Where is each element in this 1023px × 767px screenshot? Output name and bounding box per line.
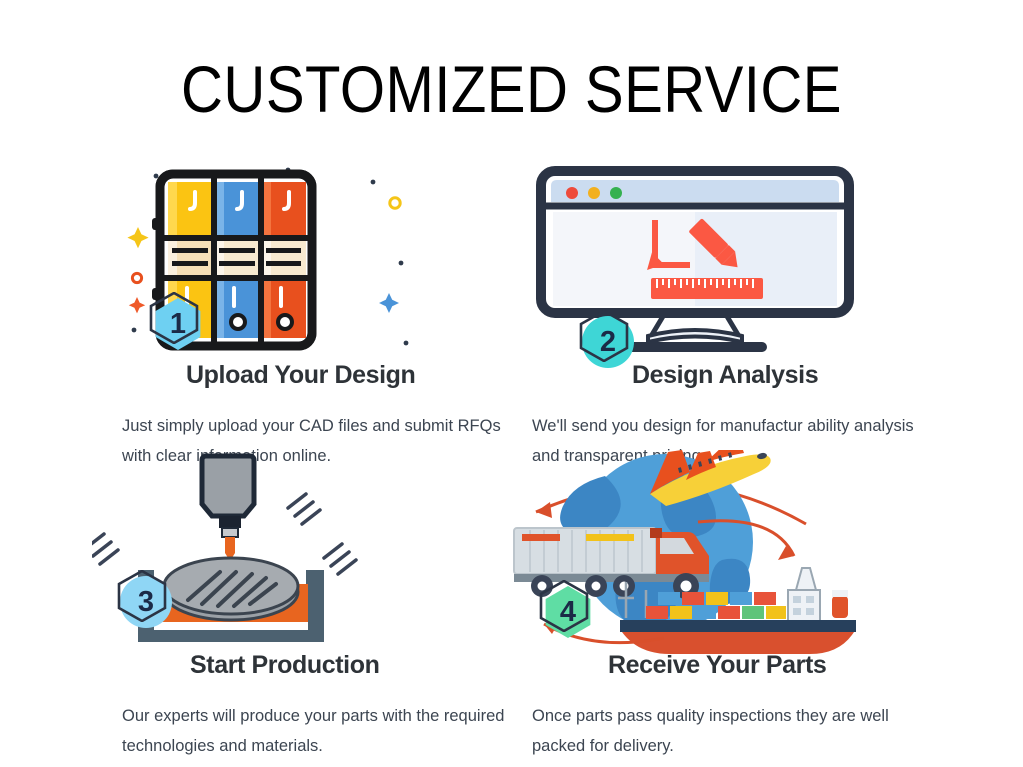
step-1-badge: 1 — [146, 290, 208, 352]
step-card-3: 3 Start Production Our experts will prod… — [92, 450, 522, 761]
step-card-4: 4 Receive Your Parts Once parts pass qua… — [500, 450, 930, 761]
step-4-artwork: 4 — [500, 450, 930, 655]
step-4-number: 4 — [542, 586, 594, 638]
step-2-number: 2 — [582, 316, 634, 368]
page-title: CUSTOMIZED SERVICE — [61, 56, 961, 122]
step-2-badge: 2 — [576, 308, 638, 370]
step-1-artwork: 1 — [92, 160, 522, 365]
step-3-artwork: 3 — [92, 450, 522, 655]
step-3-heading: Start Production — [190, 651, 379, 680]
step-card-1: 1 Upload Your Design Just simply upload … — [92, 160, 522, 471]
step-3-heading-row: Start Production — [92, 649, 522, 691]
step-4-heading-row: Receive Your Parts — [500, 649, 930, 691]
step-4-badge: 4 — [536, 578, 598, 640]
step-4-description: Once parts pass quality inspections they… — [532, 701, 932, 761]
step-1-heading-row: Upload Your Design — [92, 359, 522, 401]
monitor-cad-icon — [500, 160, 930, 365]
step-card-2: 2 Design Analysis We'll send you design … — [500, 160, 930, 471]
step-2-heading-row: Design Analysis — [500, 359, 930, 401]
step-1-number: 1 — [152, 298, 204, 350]
step-2-heading: Design Analysis — [632, 361, 818, 390]
step-3-description: Our experts will produce your parts with… — [122, 701, 522, 761]
step-3-badge: 3 — [114, 568, 176, 630]
step-2-artwork: 2 — [500, 160, 930, 365]
step-4-heading: Receive Your Parts — [608, 651, 826, 680]
step-1-heading: Upload Your Design — [186, 361, 415, 390]
steps-grid: 1 Upload Your Design Just simply upload … — [0, 160, 1023, 760]
step-3-number: 3 — [120, 576, 172, 628]
